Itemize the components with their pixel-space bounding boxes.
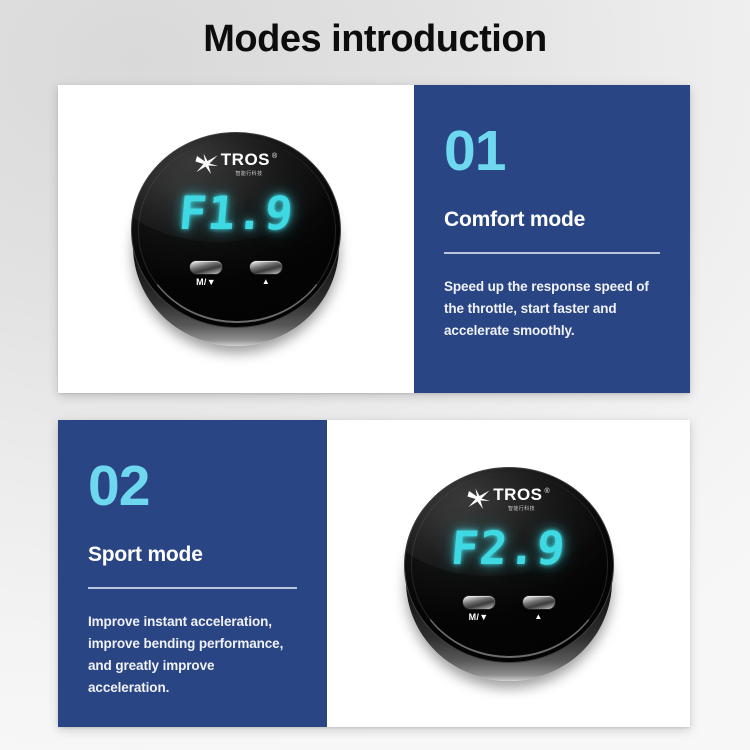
brand-name: TROS (221, 152, 270, 168)
mode-name-comfort: Comfort mode (444, 208, 660, 232)
brand-subtitle: 智能行科技 (508, 505, 535, 512)
page-title: Modes introduction (0, 18, 750, 61)
mode-number-02: 02 (88, 458, 297, 515)
brand-name: TROS (493, 487, 542, 503)
mode-card-comfort: TROS ® 智能行科技 F1.9 M/▼ ▲ (58, 85, 690, 393)
brand-textblock: TROS ® 智能行科技 (493, 487, 549, 512)
device-photo-panel-2: TROS ® 智能行科技 F2.9 M/▼ ▲ (327, 420, 690, 727)
led-display-1: F1.9 (129, 186, 343, 240)
mode-down-button-label: M/▼ (469, 613, 489, 622)
star-icon (467, 488, 491, 510)
display-value: F1.9 (176, 186, 296, 240)
mode-down-button[interactable]: M/▼ (189, 260, 223, 287)
mode-divider-2 (88, 587, 297, 589)
throttle-controller-device-2: TROS ® 智能行科技 F2.9 M/▼ ▲ (402, 467, 616, 681)
mode-name-sport: Sport mode (88, 543, 297, 567)
display-value: F2.9 (449, 521, 569, 575)
star-icon (195, 153, 219, 175)
mode-description-sport: Improve instant acceleration, improve be… (88, 611, 297, 698)
throttle-controller-device-1: TROS ® 智能行科技 F1.9 M/▼ ▲ (129, 132, 343, 346)
up-button-label: ▲ (262, 278, 270, 286)
mode-down-button[interactable]: M/▼ (462, 595, 496, 622)
mode-info-panel-2: 02 Sport mode Improve instant accelerati… (58, 420, 327, 727)
device-photo-panel-1: TROS ® 智能行科技 F1.9 M/▼ ▲ (58, 85, 414, 393)
mode-divider-1 (444, 252, 660, 254)
device-button-row-2: M/▼ ▲ (402, 595, 616, 622)
registered-mark-icon: ® (545, 488, 550, 495)
up-button-cap[interactable] (249, 260, 283, 275)
brand-subtitle: 智能行科技 (235, 170, 262, 177)
up-button-label: ▲ (534, 613, 542, 621)
brand-logo-1: TROS ® 智能行科技 (129, 152, 343, 177)
registered-mark-icon: ® (272, 153, 277, 160)
brand-word-row: TROS ® (221, 152, 277, 168)
device-button-row-1: M/▼ ▲ (129, 260, 343, 287)
brand-word-row: TROS ® (493, 487, 549, 503)
mode-description-comfort: Speed up the response speed of the throt… (444, 276, 660, 342)
up-button-cap[interactable] (522, 595, 556, 610)
mode-down-button-cap[interactable] (189, 260, 223, 275)
led-display-2: F2.9 (402, 521, 616, 575)
brand-logo-2: TROS ® 智能行科技 (402, 487, 616, 512)
mode-card-sport: 02 Sport mode Improve instant accelerati… (58, 420, 690, 727)
mode-info-panel-1: 01 Comfort mode Speed up the response sp… (414, 85, 690, 393)
up-button[interactable]: ▲ (522, 595, 556, 622)
mode-number-01: 01 (444, 123, 660, 180)
up-button[interactable]: ▲ (249, 260, 283, 287)
brand-textblock: TROS ® 智能行科技 (221, 152, 277, 177)
mode-down-button-cap[interactable] (462, 595, 496, 610)
mode-down-button-label: M/▼ (196, 278, 216, 287)
